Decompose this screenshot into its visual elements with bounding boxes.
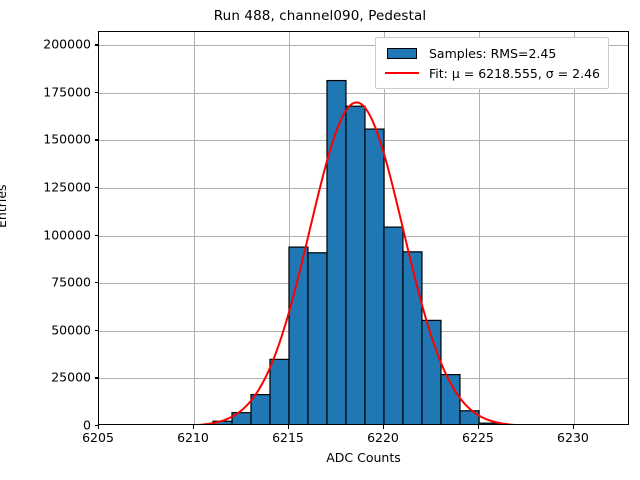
histogram-bar xyxy=(365,129,384,425)
histogram-bars xyxy=(213,81,498,425)
x-tick-label: 6205 xyxy=(82,430,114,445)
x-tick-mark xyxy=(193,425,194,429)
x-tick-mark xyxy=(288,425,289,429)
chart-figure: Run 488, channel090, Pedestal Entries AD… xyxy=(0,0,640,480)
histogram-bar xyxy=(346,106,365,425)
plot-area xyxy=(98,31,629,425)
y-tick-label: 150000 xyxy=(43,132,91,147)
x-tick-label: 6225 xyxy=(462,430,494,445)
chart-title: Run 488, channel090, Pedestal xyxy=(0,8,640,24)
histogram-bar xyxy=(403,252,422,425)
y-tick-label: 50000 xyxy=(51,322,91,337)
histogram-bar xyxy=(270,359,289,425)
x-axis-label: ADC Counts xyxy=(98,450,629,465)
x-tick-mark xyxy=(98,425,99,429)
x-tick-mark xyxy=(383,425,384,429)
x-tick-label: 6220 xyxy=(367,430,399,445)
y-tick-label: 175000 xyxy=(43,84,91,99)
legend-line-icon xyxy=(383,65,421,81)
histogram-bar xyxy=(479,423,498,425)
histogram-bar xyxy=(251,395,270,425)
legend-label-fit: Fit: μ = 6218.555, σ = 2.46 xyxy=(429,66,600,81)
x-tick-label: 6230 xyxy=(557,430,589,445)
histogram-bar xyxy=(384,227,403,425)
legend-label-samples: Samples: RMS=2.45 xyxy=(429,46,556,61)
y-tick-label: 100000 xyxy=(43,227,91,242)
legend-patch-icon xyxy=(383,45,421,61)
legend-item-samples: Samples: RMS=2.45 xyxy=(383,43,600,63)
histogram-bar xyxy=(308,253,327,425)
y-tick-label: 125000 xyxy=(43,180,91,195)
x-tick-mark xyxy=(478,425,479,429)
y-tick-label: 200000 xyxy=(43,37,91,52)
x-axis-tick-labels: 620562106215622062256230 xyxy=(98,430,629,450)
x-tick-mark xyxy=(573,425,574,429)
chart-legend: Samples: RMS=2.45 Fit: μ = 6218.555, σ =… xyxy=(375,37,609,89)
plot-svg xyxy=(99,32,629,425)
y-axis-tick-labels: 0250005000075000100000125000150000175000… xyxy=(0,31,91,425)
legend-item-fit: Fit: μ = 6218.555, σ = 2.46 xyxy=(383,63,600,83)
x-tick-label: 6210 xyxy=(177,430,209,445)
y-tick-label: 75000 xyxy=(51,275,91,290)
y-tick-label: 25000 xyxy=(51,370,91,385)
x-tick-label: 6215 xyxy=(272,430,304,445)
